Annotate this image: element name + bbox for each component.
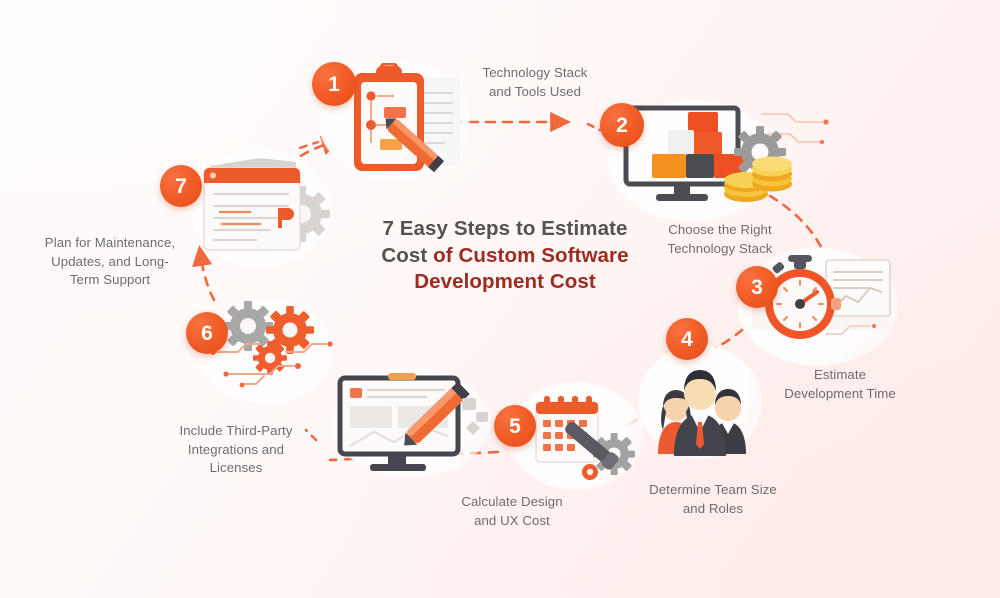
monitor-pencil-design-icon bbox=[330, 370, 495, 480]
step-6-badge: 6 bbox=[186, 312, 228, 354]
connector-6-to-7 bbox=[201, 258, 214, 300]
title-line-2-accent: of Custom Software bbox=[433, 244, 628, 267]
team-people-icon bbox=[644, 350, 756, 458]
title-line-2-plain: Cost bbox=[381, 244, 427, 267]
step-5-label: Calculate Design and UX Cost bbox=[432, 493, 592, 530]
page-title: 7 Easy Steps to Estimate Cost of Custom … bbox=[340, 216, 670, 296]
stopwatch-document-icon bbox=[742, 250, 902, 362]
step-3-badge: 3 bbox=[736, 266, 778, 308]
step-5-number: 5 bbox=[509, 416, 521, 437]
step-4-label: Determine Team Size and Roles bbox=[632, 481, 794, 518]
step-1-badge: 1 bbox=[312, 62, 356, 106]
step-7-badge: 7 bbox=[160, 165, 202, 207]
step-7-label: Plan for Maintenance, Updates, and Long-… bbox=[20, 234, 200, 290]
infographic-canvas: 1 Technology Stack and Tools Used bbox=[0, 0, 1000, 598]
step-3-number: 3 bbox=[751, 277, 763, 298]
title-line-3-accent: Development Cost bbox=[414, 270, 596, 293]
step-2-badge: 2 bbox=[600, 103, 644, 147]
monitor-blocks-gear-coins-icon bbox=[612, 100, 832, 218]
step-2-number: 2 bbox=[616, 115, 628, 136]
step-4-badge: 4 bbox=[666, 318, 708, 360]
step-6-label: Include Third-Party Integrations and Lic… bbox=[155, 422, 317, 478]
connector-1-to-2 bbox=[452, 122, 600, 130]
step-5-badge: 5 bbox=[494, 405, 536, 447]
title-line-1: 7 Easy Steps to Estimate bbox=[382, 217, 627, 240]
step-1-number: 1 bbox=[328, 74, 340, 95]
step-7-number: 7 bbox=[175, 176, 187, 197]
step-1-label: Technology Stack and Tools Used bbox=[455, 64, 615, 101]
clipboard-flowchart-pencil-icon bbox=[340, 63, 470, 179]
step-4-number: 4 bbox=[681, 329, 693, 350]
browser-document-gear-icon bbox=[198, 152, 334, 264]
step-6-number: 6 bbox=[201, 323, 213, 344]
step-3-label: Estimate Development Time bbox=[760, 366, 920, 403]
gears-circuit-icon bbox=[208, 300, 338, 400]
calendar-wrench-gear-icon bbox=[528, 388, 638, 488]
